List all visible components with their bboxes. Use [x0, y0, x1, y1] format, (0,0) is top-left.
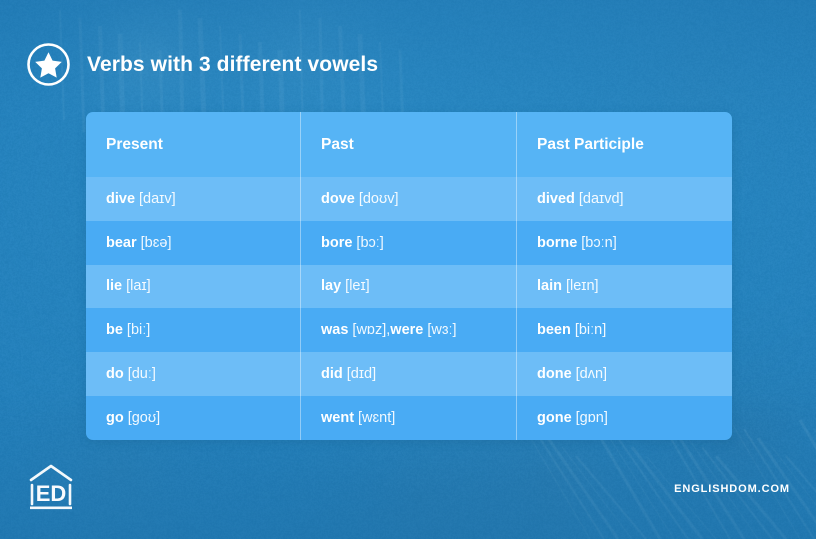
cell-past: lay[leɪ] [300, 265, 516, 309]
verb-word: been [537, 322, 571, 338]
table-row: go[goʊ]went[wɛnt]gone[gɒn] [86, 396, 732, 440]
star-in-circle-icon [26, 42, 71, 87]
cell-past-participle: dived[daɪvd] [516, 177, 732, 221]
cell-past-participle: been[biːn] [516, 308, 732, 352]
verb-transcription: [wɛnt] [358, 410, 395, 426]
verb-word: borne [537, 235, 577, 251]
verb-word: was [321, 322, 348, 338]
englishdom-house-logo[interactable]: ED [25, 463, 77, 513]
cell-past: bore[bɔː] [300, 221, 516, 265]
verb-transcription: [dʌn] [576, 366, 607, 382]
cell-past: went[wɛnt] [300, 396, 516, 440]
table-row: dive[daɪv]dove[doʊv]dived[daɪvd] [86, 177, 732, 221]
verb-word: be [106, 322, 123, 338]
svg-text:ED: ED [36, 481, 67, 506]
verb-transcription: [biː] [127, 322, 150, 338]
verb-transcription: [dɪd] [347, 366, 376, 382]
verb-transcription: [bɔːn] [581, 235, 616, 251]
verb-transcription: [daɪv] [139, 191, 176, 207]
cell-past: was[wɒz], were[wɜː] [300, 308, 516, 352]
verb-word: lie [106, 278, 122, 294]
table-row: be[biː]was[wɒz], were[wɜː]been[biːn] [86, 308, 732, 352]
verb-word: lain [537, 278, 562, 294]
verb-word: went [321, 410, 354, 426]
page-title: Verbs with 3 different vowels [87, 53, 378, 77]
cell-past: dove[doʊv] [300, 177, 516, 221]
table-row: bear[bɛə]bore[bɔː]borne[bɔːn] [86, 221, 732, 265]
verb-transcription: [leɪ] [345, 278, 370, 294]
column-header-present: Present [86, 112, 300, 177]
cell-present: dive[daɪv] [86, 177, 300, 221]
verb-word: bore [321, 235, 352, 251]
verb-transcription: [goʊ] [128, 410, 160, 426]
verb-transcription: [doʊv] [359, 191, 399, 207]
table-row: lie[laɪ]lay[leɪ]lain[leɪn] [86, 265, 732, 309]
verb-transcription: [wɜː] [427, 322, 456, 338]
verb-transcription: [biːn] [575, 322, 606, 338]
verb-word: go [106, 410, 124, 426]
verb-word: gone [537, 410, 572, 426]
verbs-table: Present Past Past Participle dive[daɪv]d… [86, 112, 732, 440]
cell-present: be[biː] [86, 308, 300, 352]
cell-present: do[duː] [86, 352, 300, 396]
table-body: dive[daɪv]dove[doʊv]dived[daɪvd]bear[bɛə… [86, 177, 732, 440]
verb-transcription: [gɒn] [576, 410, 608, 426]
verb-word: were [390, 322, 423, 338]
verb-transcription: [laɪ] [126, 278, 151, 294]
cell-present: lie[laɪ] [86, 265, 300, 309]
page-header: Verbs with 3 different vowels [26, 42, 378, 87]
cell-past-participle: lain[leɪn] [516, 265, 732, 309]
website-url[interactable]: ENGLISHDOM.COM [674, 483, 790, 495]
verb-transcription: [bɔː] [356, 235, 383, 251]
verb-word: dive [106, 191, 135, 207]
cell-past: did[dɪd] [300, 352, 516, 396]
table-row: do[duː]did[dɪd]done[dʌn] [86, 352, 732, 396]
verb-word: dived [537, 191, 575, 207]
table-header-row: Present Past Past Participle [86, 112, 732, 177]
cell-present: bear[bɛə] [86, 221, 300, 265]
cell-past-participle: gone[gɒn] [516, 396, 732, 440]
verb-transcription: [wɒz], [352, 322, 390, 338]
verb-word: done [537, 366, 572, 382]
verb-transcription: [duː] [128, 366, 156, 382]
verb-transcription: [leɪn] [566, 278, 599, 294]
verb-word: lay [321, 278, 341, 294]
column-header-past: Past [300, 112, 516, 177]
cell-present: go[goʊ] [86, 396, 300, 440]
verb-transcription: [daɪvd] [579, 191, 624, 207]
verb-word: do [106, 366, 124, 382]
verb-transcription: [bɛə] [141, 235, 172, 251]
column-header-past-participle: Past Participle [516, 112, 732, 177]
verb-word: did [321, 366, 343, 382]
cell-past-participle: borne[bɔːn] [516, 221, 732, 265]
verb-word: dove [321, 191, 355, 207]
verb-word: bear [106, 235, 137, 251]
cell-past-participle: done[dʌn] [516, 352, 732, 396]
